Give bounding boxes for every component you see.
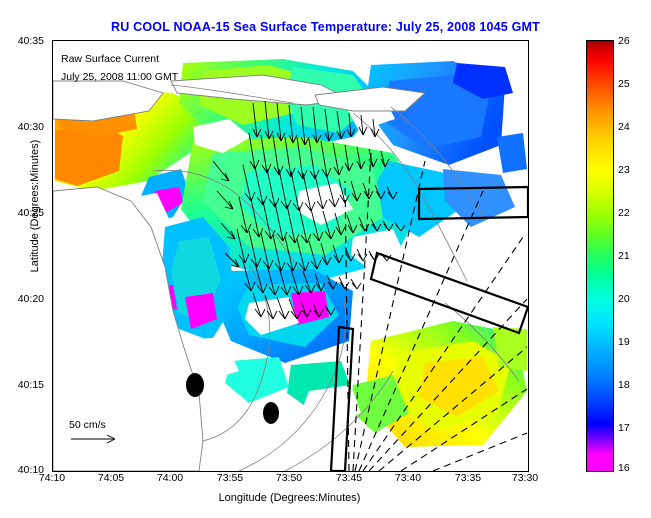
colorbar-tick: 23 — [618, 164, 630, 176]
colorbar-tick: 17 — [618, 422, 630, 434]
colorbar-tick: 19 — [618, 336, 630, 348]
dashed-transects — [345, 153, 527, 471]
chart-title: RU COOL NOAA-15 Sea Surface Temperature:… — [0, 20, 651, 34]
x-tick: 73:30 — [512, 472, 538, 484]
colorbar-tick: 16 — [618, 462, 630, 474]
y-axis-label: Latitude (Degrees:Minutes) — [29, 111, 41, 301]
x-tick: 73:35 — [455, 472, 481, 484]
x-tick: 74:00 — [157, 472, 183, 484]
x-tick: 73:45 — [336, 472, 362, 484]
x-axis-label: Longitude (Degrees:Minutes) — [52, 492, 527, 504]
y-axis-ticks: 40:35 40:30 40:25 40:20 40:15 40:10 — [0, 40, 50, 470]
colorbar-tick: 24 — [618, 121, 630, 133]
colorbar-tick: 25 — [618, 78, 630, 90]
annotation-scale: 50 cm/s — [69, 419, 106, 431]
sst-map-plot: Raw Surface Current July 25, 2008 11:00 … — [52, 40, 529, 472]
annotation-raw-surface-current: Raw Surface Current — [61, 53, 159, 65]
colorbar-tick: 20 — [618, 293, 630, 305]
y-tick: 40:15 — [18, 379, 44, 391]
station-markers — [186, 373, 279, 424]
annotation-datetime: July 25, 2008 11:00 GMT — [61, 71, 178, 83]
colorbar-tick: 18 — [618, 379, 630, 391]
overlay-vectors-and-transects — [53, 41, 528, 471]
y-tick: 40:35 — [18, 35, 44, 47]
colorbar — [586, 40, 614, 472]
x-tick: 74:10 — [39, 472, 65, 484]
surface-current-vectors — [71, 101, 405, 443]
x-axis-ticks: 74:10 74:05 74:00 73:55 73:50 73:45 73:4… — [52, 472, 527, 488]
colorbar-tick: 21 — [618, 250, 630, 262]
x-tick: 73:50 — [276, 472, 302, 484]
x-tick: 74:05 — [98, 472, 124, 484]
scale-arrow — [71, 435, 115, 443]
colorbar-tick: 26 — [618, 35, 630, 47]
colorbar-tick: 22 — [618, 207, 630, 219]
x-tick: 73:55 — [217, 472, 243, 484]
x-tick: 73:40 — [395, 472, 421, 484]
